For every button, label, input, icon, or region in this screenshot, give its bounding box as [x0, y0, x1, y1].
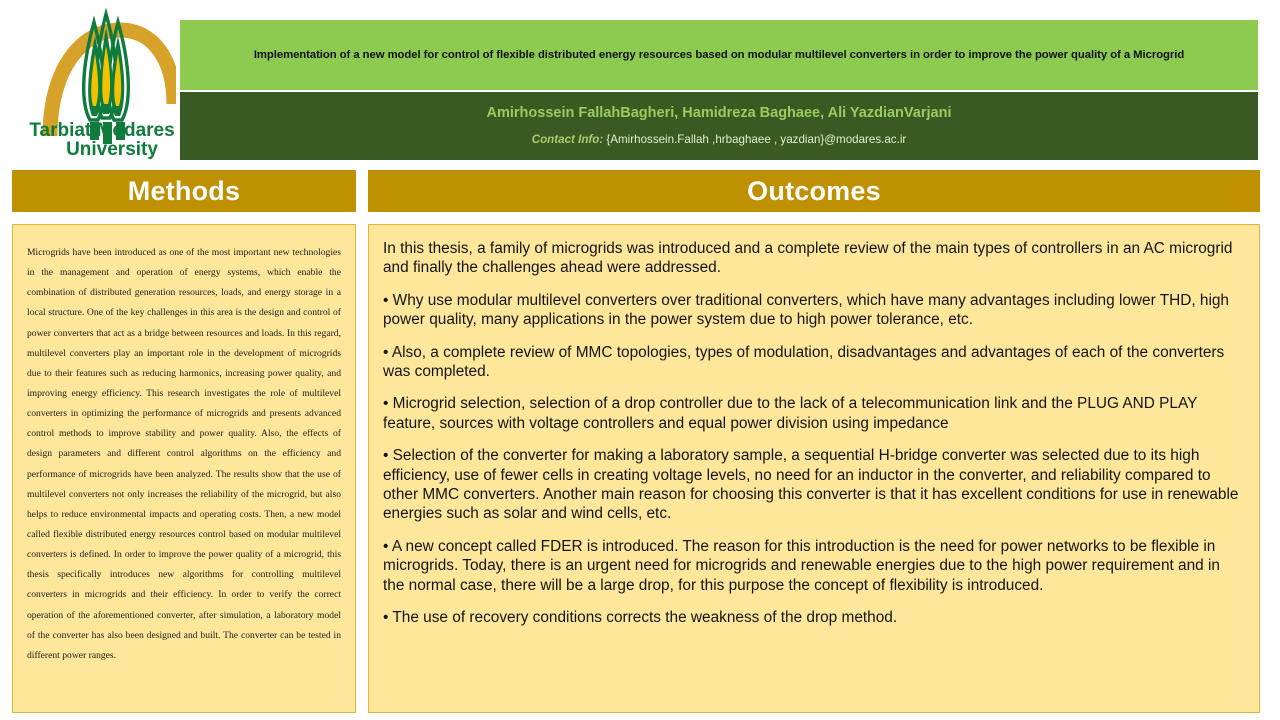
logo-line2: University — [66, 139, 158, 160]
outcomes-heading: Outcomes — [747, 178, 881, 205]
outcomes-paragraph: • The use of recovery conditions correct… — [383, 608, 1245, 627]
logo-line1: Tarbiat Modares — [29, 120, 174, 141]
methods-panel: Microgrids have been introduced as one o… — [12, 224, 356, 713]
contact-value: {Amirhossein.Fallah ,hrbaghaee , yazdian… — [603, 133, 906, 146]
methods-body-text: Microgrids have been introduced as one o… — [27, 243, 341, 666]
methods-section-header: Methods — [12, 170, 356, 212]
outcomes-paragraph: • Why use modular multilevel converters … — [383, 291, 1245, 330]
tarbiat-modares-logo-icon: Tarbiat Modares University — [28, 8, 176, 160]
outcomes-paragraph: In this thesis, a family of microgrids w… — [383, 239, 1245, 278]
author-banner: Amirhossein FallahBagheri, Hamidreza Bag… — [180, 92, 1258, 160]
author-list: Amirhossein FallahBagheri, Hamidreza Bag… — [487, 105, 952, 122]
poster-title-banner: Implementation of a new model for contro… — [180, 20, 1258, 90]
outcomes-paragraph: • Microgrid selection, selection of a dr… — [383, 394, 1245, 433]
outcomes-paragraph: • Also, a complete review of MMC topolog… — [383, 343, 1245, 382]
methods-heading: Methods — [128, 178, 240, 205]
methods-column: Methods Microgrids have been introduced … — [12, 170, 356, 713]
contact-info: Contact Info: {Amirhossein.Fallah ,hrbag… — [532, 133, 907, 147]
outcomes-panel: In this thesis, a family of microgrids w… — [368, 224, 1260, 713]
university-logo: Tarbiat Modares University — [28, 8, 176, 160]
outcomes-paragraph: • Selection of the converter for making … — [383, 446, 1245, 524]
poster-header: Tarbiat Modares University Implementatio… — [0, 0, 1280, 162]
contact-label: Contact Info: — [532, 133, 603, 146]
page-title: Implementation of a new model for contro… — [254, 48, 1184, 62]
outcomes-section-header: Outcomes — [368, 170, 1260, 212]
outcomes-paragraph: • A new concept called FDER is introduce… — [383, 537, 1245, 595]
outcomes-body-text: In this thesis, a family of microgrids w… — [383, 239, 1245, 628]
outcomes-column: Outcomes In this thesis, a family of mic… — [368, 170, 1260, 713]
